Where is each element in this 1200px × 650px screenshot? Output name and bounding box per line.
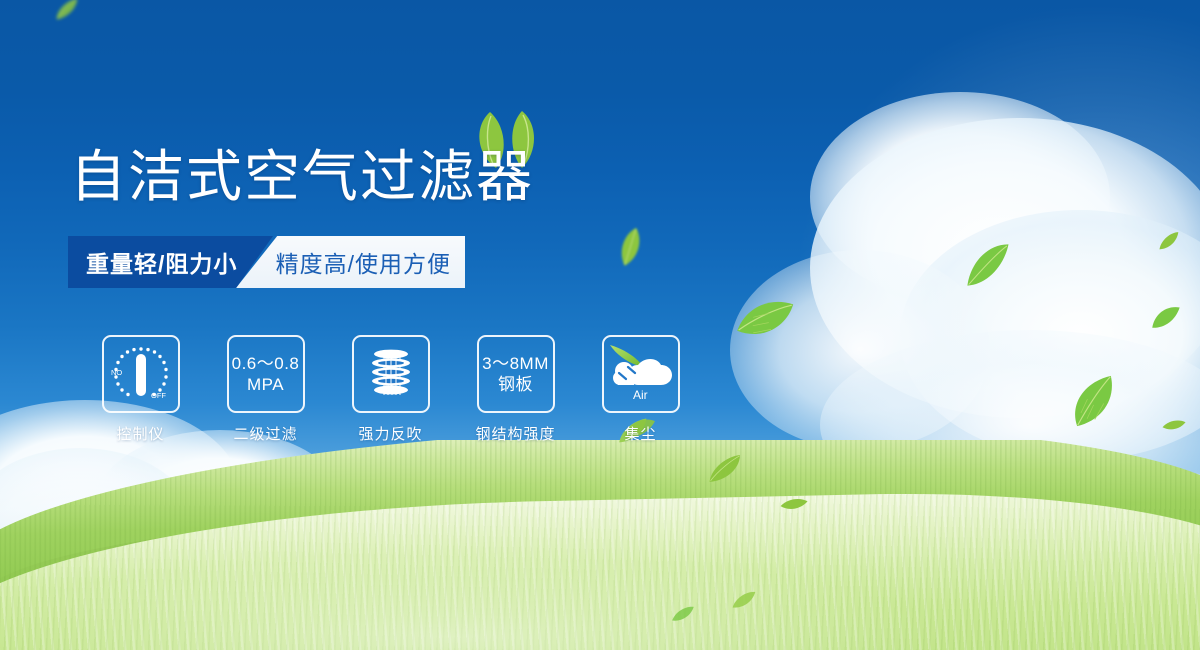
filter-cartridge-icon bbox=[362, 345, 420, 403]
page-title: 自洁式空气过滤器 bbox=[70, 146, 534, 208]
feature-box-dust: Air bbox=[602, 335, 680, 413]
banner-stage: 自洁式空气过滤器 精度高/使用方便 重量轻/阻力小 bbox=[0, 0, 1200, 650]
feature-list: NO OFF 控制仪 0.6～0.8 MPA 二级过滤 bbox=[78, 335, 703, 444]
subtitle-left-text: 重量轻/阻力小 bbox=[86, 245, 237, 279]
feature-label-pressure: 二级过滤 bbox=[233, 423, 297, 444]
grass-field bbox=[0, 440, 1200, 650]
dial-label-off: OFF bbox=[151, 391, 166, 400]
pressure-value-line1: 0.6～0.8 bbox=[232, 353, 300, 374]
air-label: Air bbox=[633, 388, 648, 402]
cloud-air-icon: Air bbox=[608, 343, 674, 405]
control-dial-icon: NO OFF bbox=[108, 343, 174, 405]
subtitle-bar: 精度高/使用方便 重量轻/阻力小 bbox=[68, 236, 465, 288]
feature-box-blowback bbox=[352, 335, 430, 413]
dial-label-on: NO bbox=[111, 368, 122, 377]
steel-value-line2: 钢板 bbox=[498, 374, 533, 395]
subtitle-right-text: 精度高/使用方便 bbox=[276, 245, 451, 279]
feature-label-blowback: 强力反吹 bbox=[358, 423, 422, 444]
feature-item-blowback[interactable]: 强力反吹 bbox=[328, 335, 453, 444]
feature-label-steel: 钢结构强度 bbox=[475, 423, 555, 444]
feature-label-control: 控制仪 bbox=[116, 423, 164, 444]
steel-value-line1: 3～8MM bbox=[482, 353, 549, 374]
feature-box-control: NO OFF bbox=[102, 335, 180, 413]
feature-item-steel[interactable]: 3～8MM 钢板 钢结构强度 bbox=[453, 335, 578, 444]
grass-sheen bbox=[0, 500, 1200, 650]
subtitle-segment-right: 精度高/使用方便 bbox=[236, 236, 465, 288]
feature-label-dust: 集尘 bbox=[624, 423, 656, 444]
pressure-value-line2: MPA bbox=[247, 374, 284, 395]
feature-box-steel: 3～8MM 钢板 bbox=[477, 335, 555, 413]
feature-item-dust[interactable]: Air 集尘 bbox=[578, 335, 703, 444]
feature-item-pressure[interactable]: 0.6～0.8 MPA 二级过滤 bbox=[203, 335, 328, 444]
feature-box-pressure: 0.6～0.8 MPA bbox=[227, 335, 305, 413]
feature-item-control[interactable]: NO OFF 控制仪 bbox=[78, 335, 203, 444]
